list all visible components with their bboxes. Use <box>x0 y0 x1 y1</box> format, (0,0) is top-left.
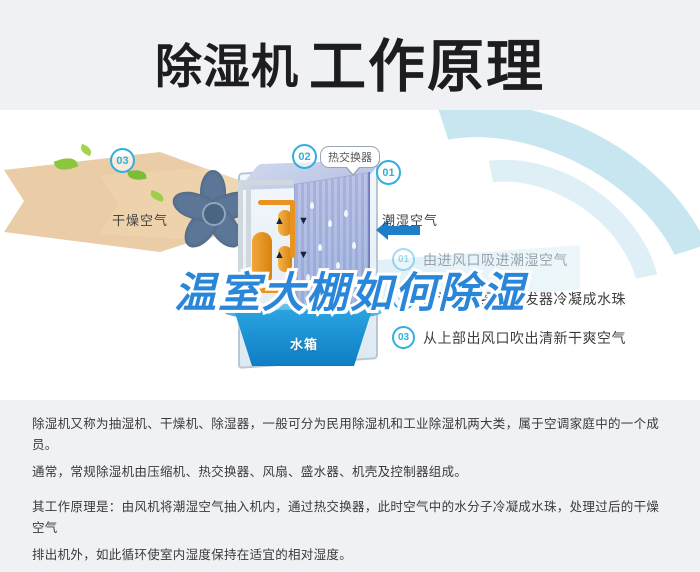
leaf-icon <box>79 144 93 156</box>
legend-label: 由进风口吸进潮湿空气 <box>423 250 568 270</box>
legend-item-02: 02 潮湿空气经过蒸发器冷凝成水珠 <box>392 287 692 310</box>
body-paragraph-2: 通常，常规除湿机由压缩机、热交换器、风扇、盛水器、机壳及控制器组成。 <box>32 462 668 483</box>
callout-label-heat-exchanger: 热交换器 <box>320 146 380 168</box>
infographic-page: 除湿机 工作原理 <box>0 0 700 566</box>
legend-number: 01 <box>392 248 415 271</box>
callout-label-humid-air: 潮湿空气 <box>382 210 438 229</box>
page-title-part2: 工作原理 <box>309 21 545 103</box>
legend-item-03: 03 从上部出风口吹出清新干爽空气 <box>392 326 692 349</box>
legend-label: 潮湿空气经过蒸发器冷凝成水珠 <box>423 289 626 309</box>
body-paragraph-3: 其工作原理是：由风机将潮湿空气抽入机内，通过热交换器，此时空气中的水分子冷凝成水… <box>32 497 668 539</box>
legend-number: 03 <box>392 326 415 349</box>
legend-number: 02 <box>392 287 415 310</box>
page-title: 除湿机 工作原理 <box>0 22 700 102</box>
callout-badge-03: 03 <box>110 148 135 173</box>
page-title-part1: 除湿机 <box>155 28 299 97</box>
body-copy: 除湿机又称为抽湿机、干燥机、除湿器，一般可分为民用除湿机和工业除湿机两大类，属于… <box>32 414 668 572</box>
legend-label: 从上部出风口吹出清新干爽空气 <box>423 328 626 348</box>
water-tank-label: 水箱 <box>290 334 318 353</box>
callout-badge-02: 02 <box>292 144 317 169</box>
body-paragraph-4: 排出机外，如此循环使室内湿度保持在适宜的相对湿度。 <box>32 545 668 566</box>
body-paragraph-1: 除湿机又称为抽湿机、干燥机、除湿器，一般可分为民用除湿机和工业除湿机两大类，属于… <box>32 414 668 456</box>
legend-item-01: 01 由进风口吸进潮湿空气 <box>392 248 692 271</box>
callout-label-dry-air: 干燥空气 <box>112 210 168 229</box>
callout-badge-01: 01 <box>376 160 401 185</box>
legend-list: 01 由进风口吸进潮湿空气 02 潮湿空气经过蒸发器冷凝成水珠 03 从上部出风… <box>392 248 692 365</box>
